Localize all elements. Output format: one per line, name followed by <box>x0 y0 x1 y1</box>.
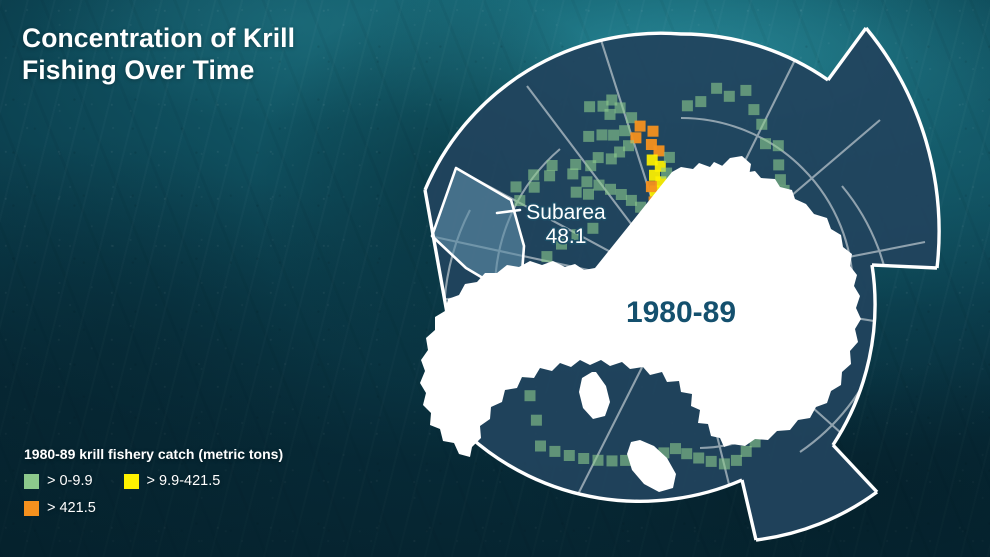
legend-row: > 421.5 <box>24 500 283 516</box>
catch-cell <box>748 104 759 115</box>
catch-cell <box>594 180 605 191</box>
catch-cell <box>756 119 767 130</box>
page-title: Concentration of Krill Fishing Over Time <box>22 22 295 87</box>
catch-cell <box>719 458 730 469</box>
catch-cell <box>578 453 589 464</box>
catch-cell <box>664 152 675 163</box>
catch-cell <box>525 390 536 401</box>
legend-item-high[interactable]: > 421.5 <box>24 500 96 516</box>
catch-cell <box>615 102 626 113</box>
catch-cell <box>549 446 560 457</box>
legend-label: > 421.5 <box>47 500 96 516</box>
catch-cell <box>585 160 596 171</box>
catch-cell <box>616 189 627 200</box>
catch-cell <box>670 443 681 454</box>
catch-cell <box>605 184 616 195</box>
legend-title: 1980-89 krill fishery catch (metric tons… <box>24 446 283 462</box>
page-title-line-2: Fishing Over Time <box>22 54 295 86</box>
catch-cell <box>567 168 578 179</box>
catch-cell <box>593 455 604 466</box>
catch-cell <box>535 441 546 452</box>
map-legend: 1980-89 krill fishery catch (metric tons… <box>24 446 283 527</box>
catch-cell <box>648 126 659 137</box>
catch-cell <box>731 455 742 466</box>
catch-cell <box>711 83 722 94</box>
catch-cell <box>583 131 594 142</box>
catch-cell <box>544 170 555 181</box>
catch-cell <box>773 140 784 151</box>
catch-cell <box>564 450 575 461</box>
legend-label: > 0-9.9 <box>47 473 93 489</box>
catch-cell <box>706 456 717 467</box>
legend-swatch-icon <box>24 474 39 489</box>
catch-cell <box>619 125 630 136</box>
catch-cell <box>587 223 598 234</box>
legend-item-low[interactable]: > 0-9.9 <box>24 473 93 489</box>
catch-cell <box>511 181 522 192</box>
catch-cell <box>531 415 542 426</box>
catch-cell <box>597 129 608 140</box>
catch-cell <box>571 187 582 198</box>
catch-cell <box>773 159 784 170</box>
catch-cell <box>635 121 646 132</box>
catch-cell <box>740 85 751 96</box>
catch-cell <box>514 195 525 206</box>
catch-cell <box>682 100 693 111</box>
catch-cell <box>695 96 706 107</box>
legend-swatch-icon <box>124 474 139 489</box>
legend-label: > 9.9-421.5 <box>147 473 221 489</box>
catch-cell <box>606 153 617 164</box>
catch-cell <box>529 182 540 193</box>
callout-label-line-2: 48.1 <box>546 225 587 248</box>
legend-item-mid[interactable]: > 9.9-421.5 <box>124 473 221 489</box>
catch-cell <box>724 91 735 102</box>
catch-cell <box>693 453 704 464</box>
catch-cell <box>760 138 771 149</box>
legend-swatch-icon <box>24 501 39 516</box>
catch-cell <box>547 160 558 171</box>
catch-cell <box>541 251 552 262</box>
page-title-line-1: Concentration of Krill <box>22 22 295 54</box>
catch-cell <box>741 446 752 457</box>
legend-row: > 0-9.9 > 9.9-421.5 <box>24 473 283 489</box>
period-label: 1980-89 <box>626 296 736 329</box>
catch-cell <box>646 181 657 192</box>
catch-cell <box>581 176 592 187</box>
callout-label-line-1: Subarea <box>526 201 606 224</box>
catch-cell <box>528 169 539 180</box>
catch-cell <box>608 130 619 141</box>
catch-cell <box>584 101 595 112</box>
catch-cell <box>626 195 637 206</box>
catch-cell <box>607 455 618 466</box>
catch-cell <box>605 109 616 120</box>
catch-cell <box>583 189 594 200</box>
catch-cell <box>570 159 581 170</box>
catch-cell <box>681 448 692 459</box>
